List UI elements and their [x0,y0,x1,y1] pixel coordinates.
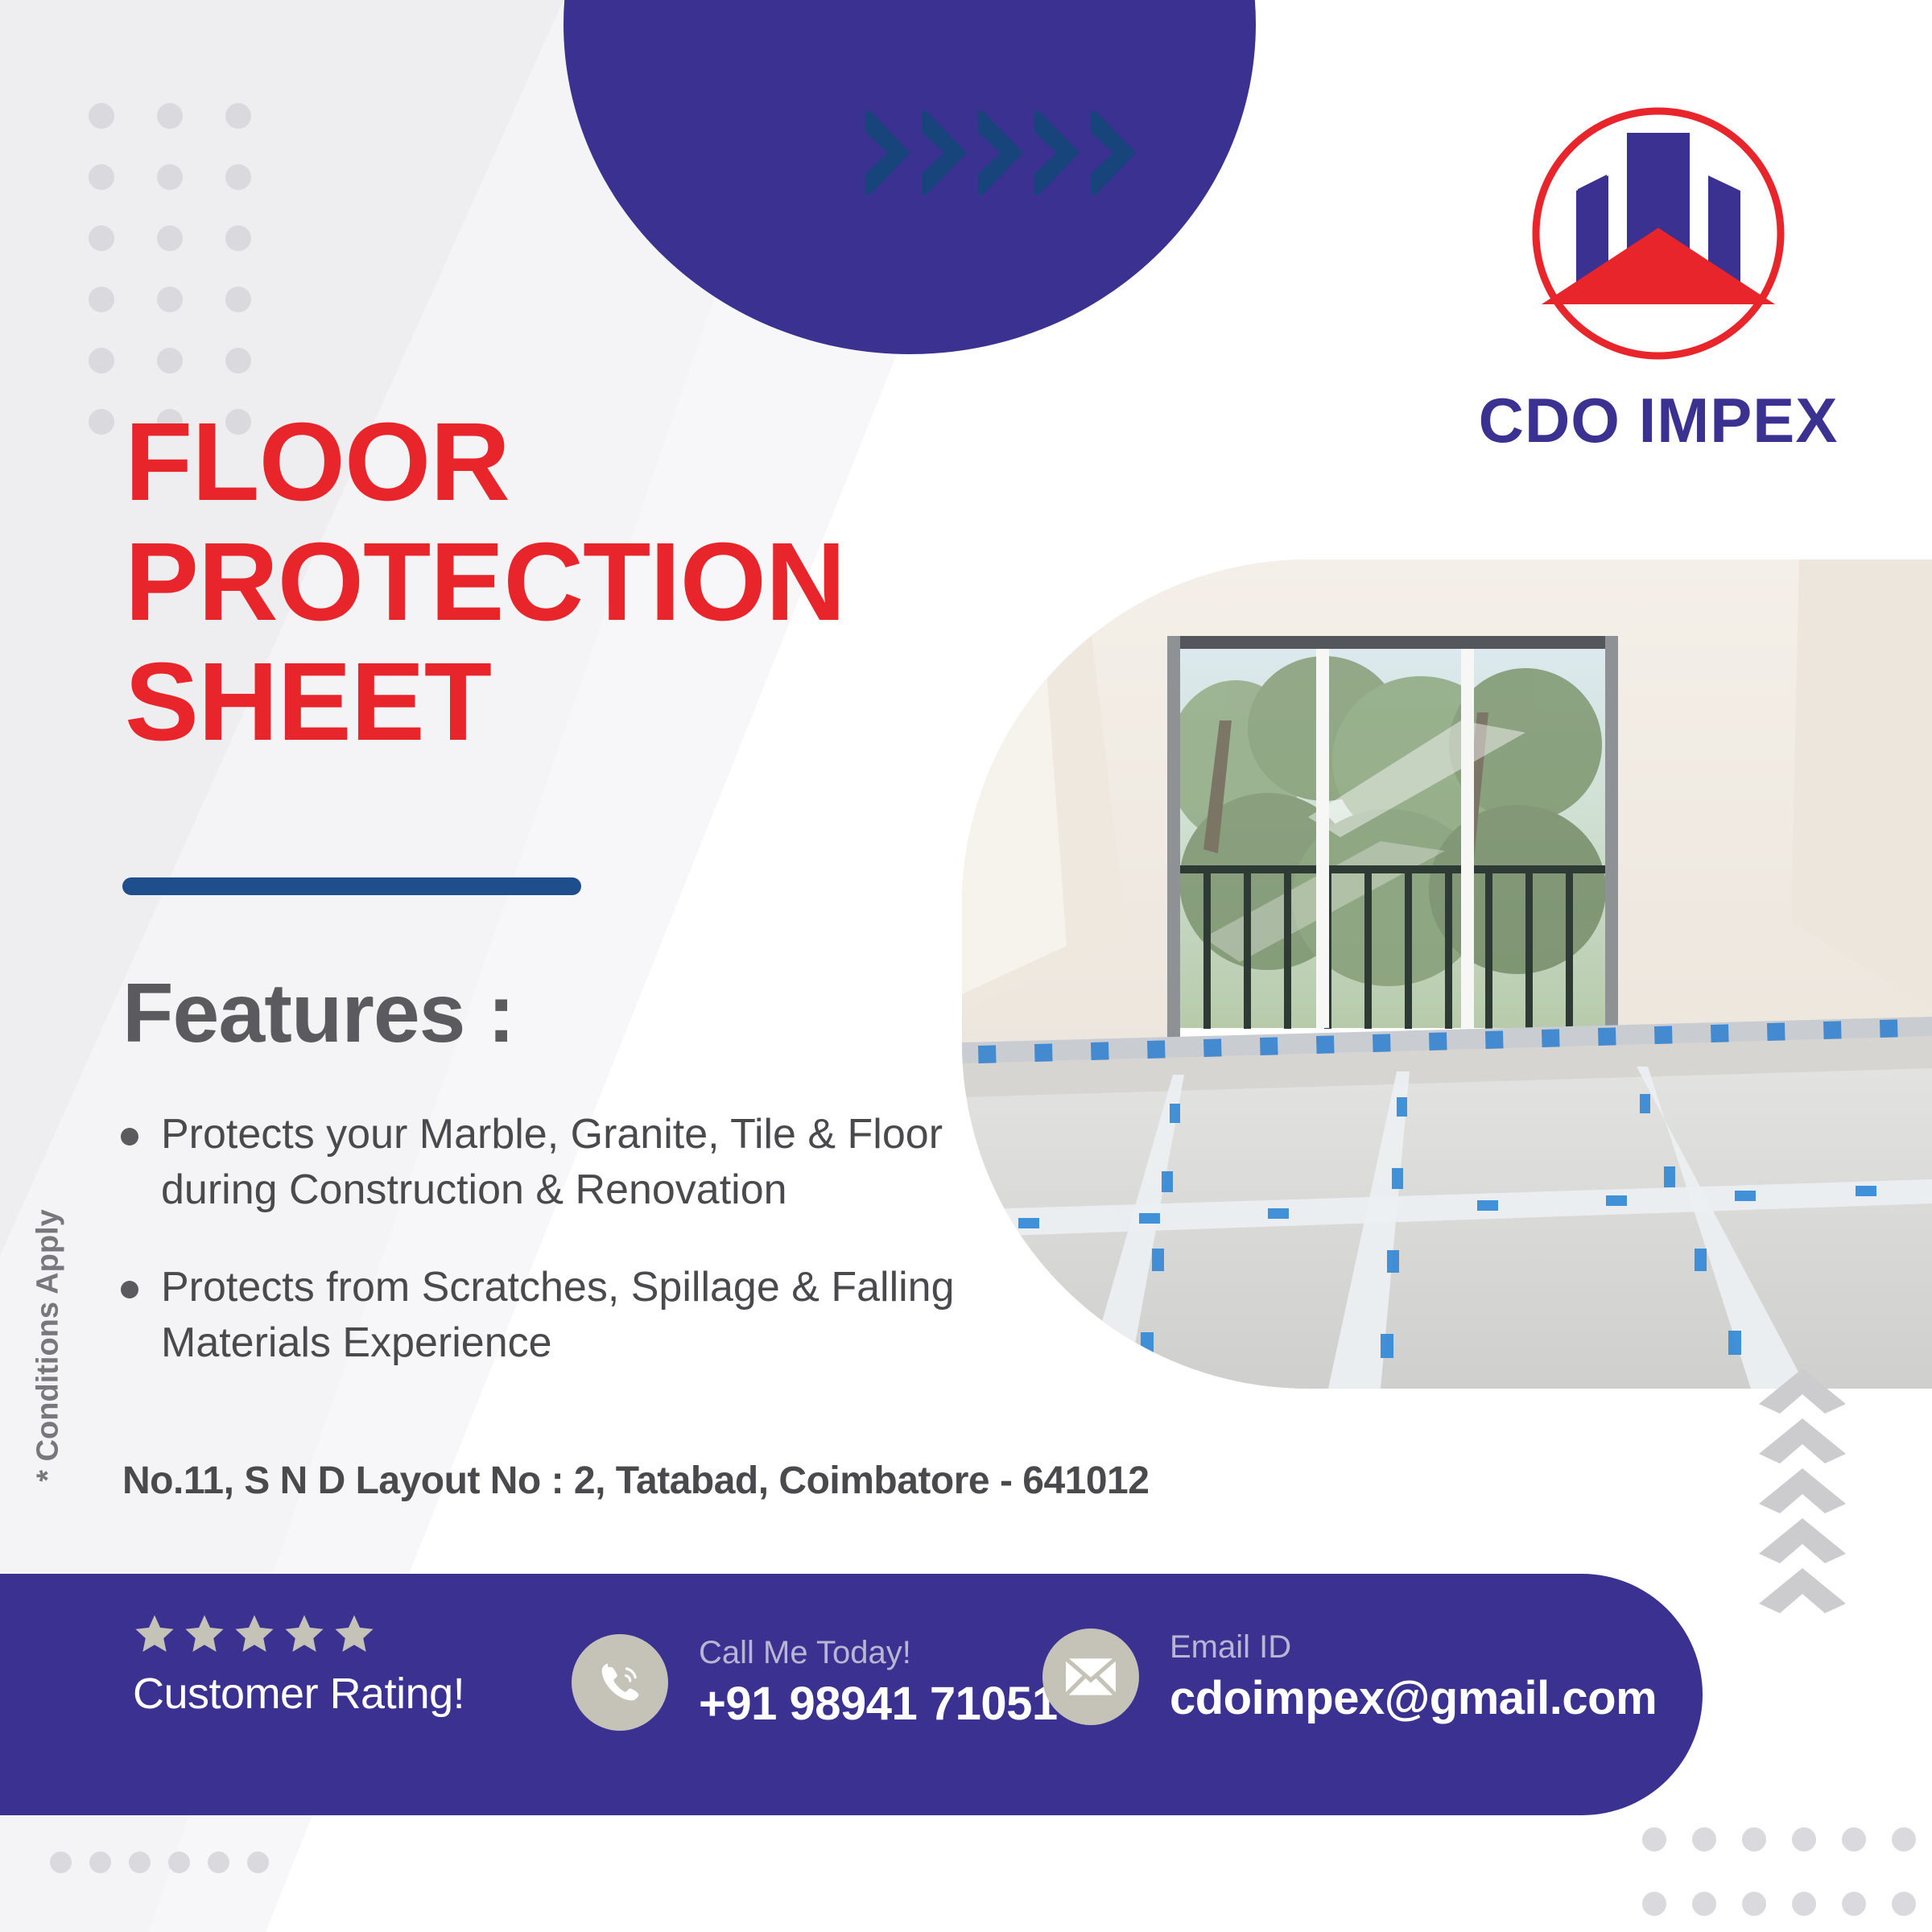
dot-icon [1642,1892,1666,1916]
dot-icon [89,103,114,129]
dot-icon [157,225,183,251]
phone-contact[interactable]: Call Me Today! +91 98941 71051 [572,1634,1058,1731]
dot-icon [225,348,251,374]
chevron-up-group [1759,1368,1846,1613]
dot-icon [168,1851,190,1873]
phone-label: Call Me Today! [699,1635,1058,1670]
dot-icon [1692,1827,1716,1851]
dot-icon [1892,1892,1916,1916]
dot-icon [1692,1892,1716,1916]
email-address[interactable]: cdoimpex@gmail.com [1170,1671,1657,1725]
poster-canvas: CDO IMPEX FLOOR PROTECTION SHEET Feature… [0,0,1932,1932]
chevron-right-icon [1034,111,1080,195]
list-item: Protects from Scratches, Spillage & Fall… [121,1260,958,1371]
star-icon [283,1612,326,1656]
dot-icon [89,409,114,435]
dot-icon [89,225,114,251]
chevron-up-icon [1759,1418,1846,1463]
dot-icon [89,1851,111,1873]
dot-icon [1892,1827,1916,1851]
dot-icon [1842,1892,1866,1916]
building-skyline-icon [1513,101,1803,382]
customer-rating-block: Customer Rating! [133,1612,464,1719]
list-item: Protects your Marble, Granite, Tile & Fl… [121,1107,958,1218]
phone-ringing-icon [572,1634,668,1731]
dot-icon [89,348,114,374]
star-icon [133,1612,176,1656]
star-icon [183,1612,226,1656]
title-divider [122,877,581,895]
company-address: No.11, S N D Layout No : 2, Tatabad, Coi… [122,1459,1149,1503]
dot-icon [129,1851,151,1873]
dot-icon [225,225,251,251]
dot-icon [1842,1827,1866,1851]
dot-icon [225,164,251,190]
chevron-right-group [865,111,1136,195]
chevron-up-icon [1759,1518,1846,1563]
brand-name: CDO IMPEX [1425,384,1892,457]
dot-grid-bottom-right [1642,1827,1916,1932]
email-contact[interactable]: Email ID cdoimpex@gmail.com [1042,1629,1657,1725]
dot-icon [89,287,114,312]
dot-icon [157,348,183,374]
chevron-up-icon [1759,1468,1846,1513]
footer-content: Customer Rating! Call Me Today! +91 9894… [0,1574,1703,1815]
rating-label: Customer Rating! [133,1669,464,1719]
headline-line-3: SHEET [125,642,978,762]
features-heading: Features : [122,966,514,1062]
dot-icon [50,1851,72,1873]
dot-icon [157,164,183,190]
dot-icon [157,103,183,129]
footer-bar: Customer Rating! Call Me Today! +91 9894… [0,1574,1703,1815]
headline-line-2: PROTECTION [125,522,978,642]
dot-icon [225,103,251,129]
feature-text: Protects your Marble, Granite, Tile & Fl… [161,1107,958,1218]
chevron-up-icon [1759,1368,1846,1414]
dot-icon [157,287,183,312]
chevron-right-icon [978,111,1023,195]
dot-icon [247,1851,269,1873]
dot-icon [1792,1892,1816,1916]
dot-grid-top-left [89,103,251,435]
email-label: Email ID [1170,1629,1657,1665]
chevron-right-icon [865,111,910,195]
envelope-icon [1042,1629,1139,1725]
features-list: Protects your Marble, Granite, Tile & Fl… [121,1107,958,1414]
dot-icon [225,287,251,312]
phone-number[interactable]: +91 98941 71051 [699,1677,1058,1731]
feature-text: Protects from Scratches, Spillage & Fall… [161,1260,958,1371]
bullet-icon [121,1281,138,1298]
rating-stars [133,1612,464,1656]
dot-icon [1642,1827,1666,1851]
bullet-icon [121,1128,138,1146]
star-icon [332,1612,376,1656]
chevron-up-icon [1759,1568,1846,1613]
page-title: FLOOR PROTECTION SHEET [125,402,978,762]
dot-grid-bottom-left [50,1851,269,1873]
headline-line-1: FLOOR [125,402,978,522]
star-icon [233,1612,276,1656]
dot-icon [1742,1827,1766,1851]
dot-icon [208,1851,229,1873]
product-photo [962,559,1932,1389]
dot-icon [1742,1892,1766,1916]
email-text-group: Email ID cdoimpex@gmail.com [1170,1629,1657,1725]
dot-icon [89,164,114,190]
dot-icon [1792,1827,1816,1851]
chevron-right-icon [922,111,967,195]
brand-logo: CDO IMPEX [1425,101,1892,479]
chevron-right-icon [1091,111,1136,195]
phone-text-group: Call Me Today! +91 98941 71051 [699,1635,1058,1731]
conditions-apply-note: * Conditions Apply [31,1177,66,1515]
